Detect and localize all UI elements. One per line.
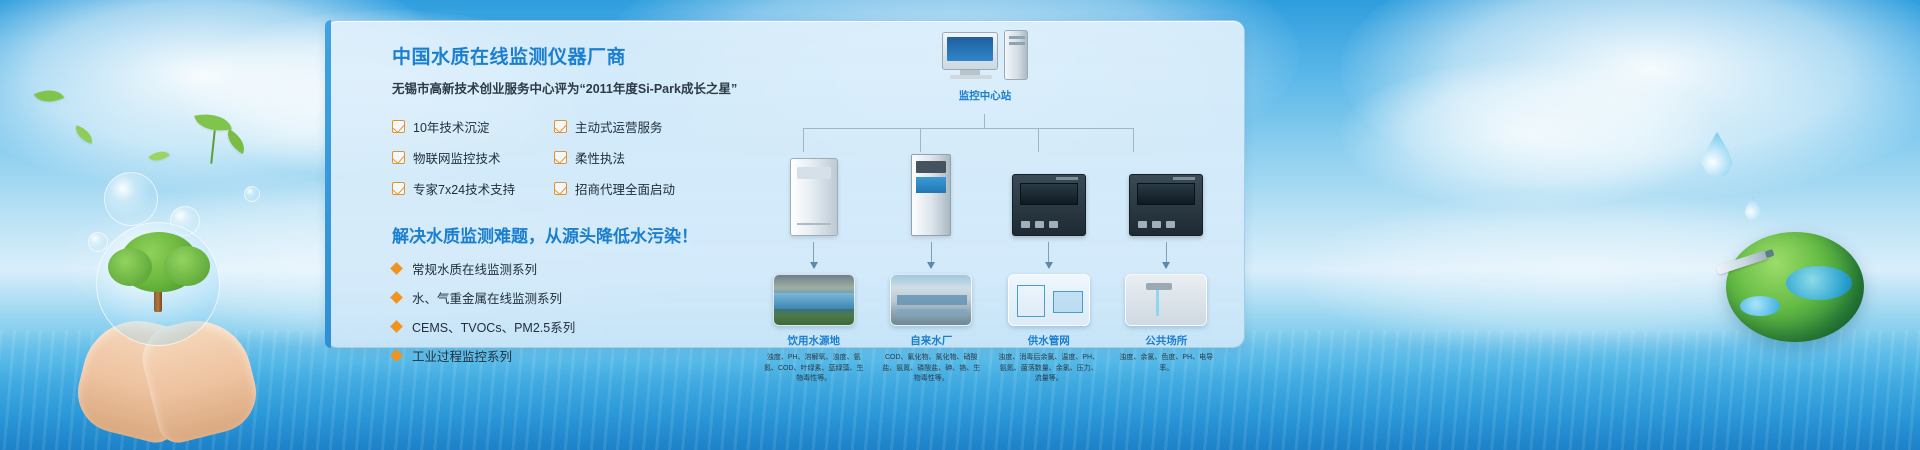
- device-columns: 饮用水源地 浊度、PH、溶解氧、浊度、氨氮、COD、叶绿素、蓝绿藻、生物毒性等。…: [755, 150, 1225, 385]
- meter-button[interactable]: [1166, 221, 1175, 228]
- monitoring-center-label: 监控中心站: [915, 88, 1055, 103]
- checkbox-checked-icon: [392, 151, 405, 164]
- category-description: COD、氟化物、氯化物、硝酸盐、氨氮、磷酸盐、砷、铬、生物毒性等。: [879, 353, 983, 385]
- checklist-item-label: 物联网监控技术: [413, 148, 501, 167]
- connector-bus-line: [803, 128, 1133, 129]
- analyzer-cabinet-icon: [911, 154, 951, 236]
- scene-thumbnail: [773, 274, 855, 326]
- cloud-icon: [1340, 60, 1720, 210]
- checkbox-checked-icon: [554, 120, 567, 133]
- controller-meter-icon: [1129, 174, 1203, 236]
- system-topology-diagram: 监控中心站 饮用水源地 浊度、PH、溶解氧、浊度、氨氮、COD、叶绿素、蓝绿藻、…: [755, 32, 1225, 332]
- list-item-label: CEMS、TVOCs、PM2.5系列: [412, 317, 575, 336]
- bubble-icon: [244, 186, 260, 202]
- monitoring-center-node: 监控中心站: [915, 32, 1055, 103]
- checklist-item[interactable]: 柔性执法: [554, 148, 722, 167]
- page-subtitle: 无锡市高新技术创业服务中心评为“2011年度Si-Park成长之星”: [392, 78, 722, 97]
- meter-display: [1020, 183, 1078, 205]
- earth-globe-illustration: [1726, 232, 1864, 342]
- down-arrow-icon: [1166, 242, 1167, 268]
- feature-checklist: 10年技术沉淀 主动式运营服务 物联网监控技术 柔性执法 专家7x24技术支持 …: [392, 117, 722, 198]
- diamond-bullet-icon: [390, 349, 403, 362]
- bubble-icon: [88, 232, 108, 252]
- meter-buttons: [1138, 221, 1175, 228]
- panel-left-accent-bar: [325, 20, 331, 348]
- meter-button[interactable]: [1152, 221, 1161, 228]
- down-arrow-icon: [813, 242, 814, 268]
- meter-button[interactable]: [1049, 221, 1058, 228]
- page-title: 中国水质在线监测仪器厂商: [392, 42, 722, 69]
- category-description: 浊度、余氯、色度、PH、电导率。: [1114, 353, 1218, 374]
- monitor-screen: [947, 37, 993, 61]
- analyzer-cabinet-icon: [790, 158, 838, 236]
- connector-line: [1038, 128, 1039, 152]
- list-item-label: 工业过程监控系列: [412, 346, 512, 365]
- checklist-item[interactable]: 专家7x24技术支持: [392, 179, 554, 198]
- tree-icon: [120, 232, 198, 292]
- diamond-bullet-icon: [390, 291, 403, 304]
- device-illustration: [911, 150, 951, 236]
- checklist-item[interactable]: 主动式运营服务: [554, 117, 722, 136]
- brand-strip: [1056, 177, 1078, 180]
- meter-button[interactable]: [1021, 221, 1030, 228]
- bubble-icon: [104, 172, 158, 226]
- connector-line: [920, 128, 921, 152]
- connector-line: [803, 128, 804, 152]
- checklist-item[interactable]: 招商代理全面启动: [554, 179, 722, 198]
- checklist-item-label: 专家7x24技术支持: [413, 179, 515, 198]
- pc-tower-icon: [1004, 30, 1028, 80]
- computer-icon: [942, 32, 1028, 80]
- cabinet-panel: [916, 161, 946, 173]
- list-item[interactable]: CEMS、TVOCs、PM2.5系列: [392, 317, 722, 336]
- down-arrow-icon: [1048, 242, 1049, 268]
- panel-text-column: 中国水质在线监测仪器厂商 无锡市高新技术创业服务中心评为“2011年度Si-Pa…: [392, 42, 722, 365]
- checklist-item-label: 主动式运营服务: [575, 117, 663, 136]
- checklist-item-label: 柔性执法: [575, 148, 625, 167]
- controller-meter-icon: [1012, 174, 1086, 236]
- category-title: 饮用水源地: [788, 333, 841, 348]
- meter-display: [1137, 183, 1195, 205]
- down-arrow-icon: [931, 242, 932, 268]
- diamond-bullet-icon: [390, 262, 403, 275]
- device-illustration: [1012, 150, 1086, 236]
- list-item-label: 常规水质在线监测系列: [412, 259, 537, 278]
- list-item-label: 水、气重金属在线监测系列: [412, 288, 562, 307]
- checklist-item[interactable]: 10年技术沉淀: [392, 117, 554, 136]
- monitor-base: [950, 75, 992, 79]
- category-title: 供水管网: [1028, 333, 1070, 348]
- connector-line: [984, 114, 985, 128]
- section-headline: 解决水质监测难题，从源头降低水污染！: [392, 222, 722, 247]
- checklist-item-label: 10年技术沉淀: [413, 117, 489, 136]
- checkbox-checked-icon: [554, 151, 567, 164]
- earth-lake-icon: [1786, 266, 1852, 300]
- category-title: 自来水厂: [910, 333, 952, 348]
- meter-buttons: [1021, 221, 1058, 228]
- scene-thumbnail: [1008, 274, 1090, 326]
- checklist-item[interactable]: 物联网监控技术: [392, 148, 554, 167]
- device-column: 供水管网 浊度、消毒后余氯、温度、PH、氨氮、菌落数量、余氯、压力、流量等。: [990, 150, 1108, 385]
- earth-lake-icon: [1740, 296, 1780, 316]
- meter-button[interactable]: [1138, 221, 1147, 228]
- product-series-list: 常规水质在线监测系列 水、气重金属在线监测系列 CEMS、TVOCs、PM2.5…: [392, 259, 722, 365]
- category-title: 公共场所: [1145, 333, 1187, 348]
- meter-button[interactable]: [1035, 221, 1044, 228]
- device-column: 饮用水源地 浊度、PH、溶解氧、浊度、氨氮、COD、叶绿素、蓝绿藻、生物毒性等。: [755, 150, 873, 385]
- list-item[interactable]: 水、气重金属在线监测系列: [392, 288, 722, 307]
- device-column: 公共场所 浊度、余氯、色度、PH、电导率。: [1108, 150, 1226, 385]
- diamond-bullet-icon: [390, 320, 403, 333]
- device-column: 自来水厂 COD、氟化物、氯化物、硝酸盐、氨氮、磷酸盐、砷、铬、生物毒性等。: [873, 150, 991, 385]
- scene-thumbnail: [890, 274, 972, 326]
- device-illustration: [790, 150, 838, 236]
- cabinet-panel: [916, 177, 946, 193]
- scene-thumbnail: [1125, 274, 1207, 326]
- device-illustration: [1129, 150, 1203, 236]
- checkbox-checked-icon: [554, 182, 567, 195]
- checkbox-checked-icon: [392, 182, 405, 195]
- connector-line: [1133, 128, 1134, 152]
- list-item[interactable]: 工业过程监控系列: [392, 346, 722, 365]
- brand-strip: [1173, 177, 1195, 180]
- list-item[interactable]: 常规水质在线监测系列: [392, 259, 722, 278]
- monitor-icon: [942, 32, 998, 70]
- checkbox-checked-icon: [392, 120, 405, 133]
- category-description: 浊度、PH、溶解氧、浊度、氨氮、COD、叶绿素、蓝绿藻、生物毒性等。: [762, 353, 866, 385]
- checklist-item-label: 招商代理全面启动: [575, 179, 675, 198]
- category-description: 浊度、消毒后余氯、温度、PH、氨氮、菌落数量、余氯、压力、流量等。: [997, 353, 1101, 385]
